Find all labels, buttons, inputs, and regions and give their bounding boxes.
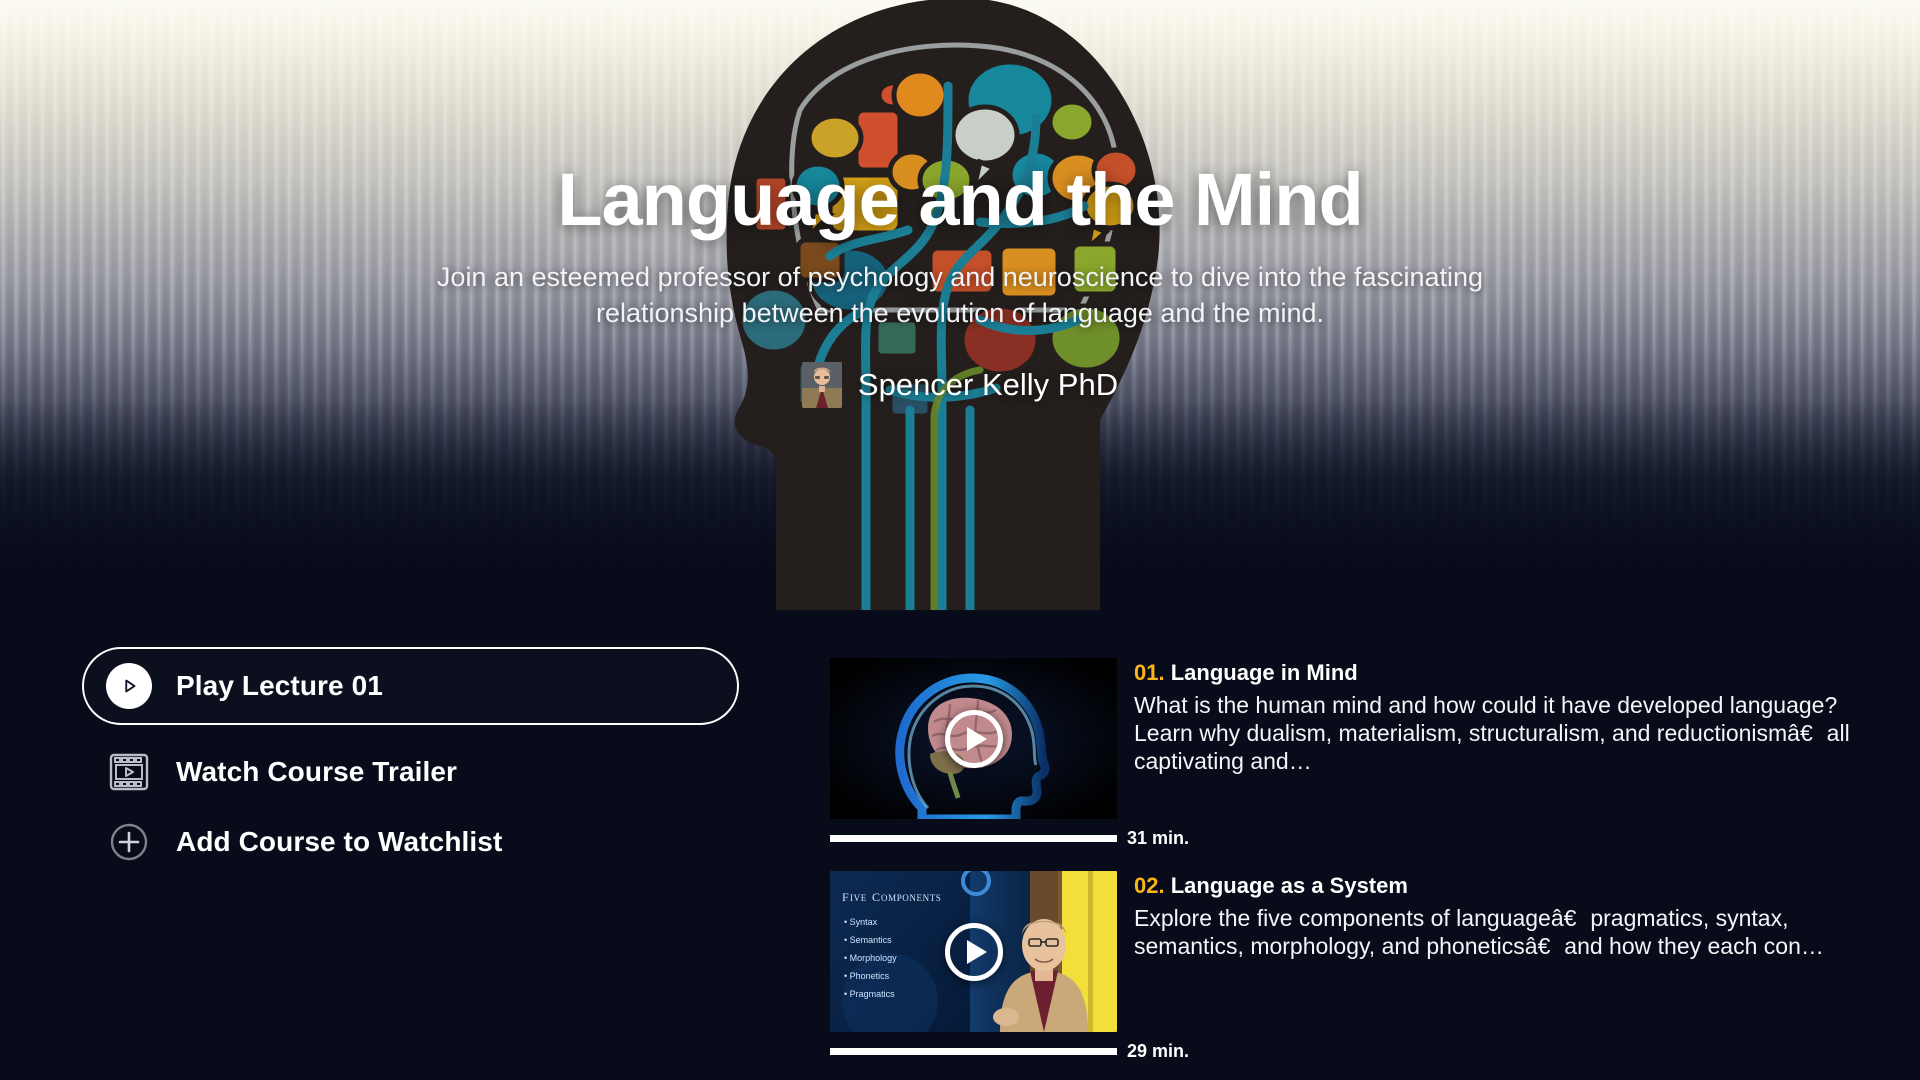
lecture-title: Language in Mind xyxy=(1171,660,1358,685)
film-strip-icon xyxy=(106,749,152,795)
lecture-progress-row: 31 min. xyxy=(830,828,1117,849)
plus-circle-icon xyxy=(106,819,152,865)
lecture-description: What is the human mind and how could it … xyxy=(1134,692,1850,775)
add-watchlist-label: Add Course to Watchlist xyxy=(176,826,502,858)
lecture-description: Explore the five components of languageâ… xyxy=(1134,905,1850,960)
svg-text:• Morphology: • Morphology xyxy=(844,953,897,963)
play-icon xyxy=(106,663,152,709)
lower-section: Play Lecture 01 Watch Course Trailer xyxy=(0,640,1920,1080)
list-item[interactable]: 31 min. 01. Language in Mind What is the… xyxy=(830,658,1850,849)
svg-text:OMPONENTS: OMPONENTS xyxy=(881,893,941,903)
svg-text:F: F xyxy=(842,890,849,904)
head-silhouette-illustration xyxy=(680,0,1240,610)
svg-text:• Pragmatics: • Pragmatics xyxy=(844,989,895,999)
thumbnail-play-icon[interactable] xyxy=(945,710,1003,768)
svg-text:• Phonetics: • Phonetics xyxy=(844,971,890,981)
lecture-thumbnail[interactable] xyxy=(830,658,1117,819)
svg-text:• Syntax: • Syntax xyxy=(844,917,878,927)
lecture-info: 02. Language as a System Explore the fiv… xyxy=(1117,871,1850,1062)
lecture-number: 02. xyxy=(1134,873,1165,898)
svg-text:C: C xyxy=(872,890,881,904)
lecture-number: 01. xyxy=(1134,660,1165,685)
progress-bar[interactable] xyxy=(830,1048,1117,1055)
hero-background xyxy=(0,0,1920,640)
progress-bar[interactable] xyxy=(830,835,1117,842)
svg-text:IVE: IVE xyxy=(850,893,867,903)
lecture-progress-row: 29 min. xyxy=(830,1041,1117,1062)
lecture-list: 31 min. 01. Language in Mind What is the… xyxy=(830,640,1920,1080)
course-actions: Play Lecture 01 Watch Course Trailer xyxy=(0,640,830,1080)
svg-text:• Semantics: • Semantics xyxy=(844,935,892,945)
lecture-thumbnail-column: F IVE C OMPONENTS • Syntax • Semantics •… xyxy=(830,871,1117,1062)
watch-trailer-label: Watch Course Trailer xyxy=(176,756,457,788)
lecture-thumbnail[interactable]: F IVE C OMPONENTS • Syntax • Semantics •… xyxy=(830,871,1117,1032)
list-item[interactable]: F IVE C OMPONENTS • Syntax • Semantics •… xyxy=(830,871,1850,1062)
lecture-heading: 01. Language in Mind xyxy=(1134,660,1850,686)
lecture-heading: 02. Language as a System xyxy=(1134,873,1850,899)
lecture-info: 01. Language in Mind What is the human m… xyxy=(1117,658,1850,849)
lecture-thumbnail-column: 31 min. xyxy=(830,658,1117,849)
add-watchlist-button[interactable]: Add Course to Watchlist xyxy=(82,819,830,865)
lecture-title: Language as a System xyxy=(1171,873,1408,898)
thumbnail-play-icon[interactable] xyxy=(945,923,1003,981)
watch-trailer-button[interactable]: Watch Course Trailer xyxy=(82,749,830,795)
play-lecture-button[interactable]: Play Lecture 01 xyxy=(82,647,739,725)
play-lecture-label: Play Lecture 01 xyxy=(176,670,383,702)
